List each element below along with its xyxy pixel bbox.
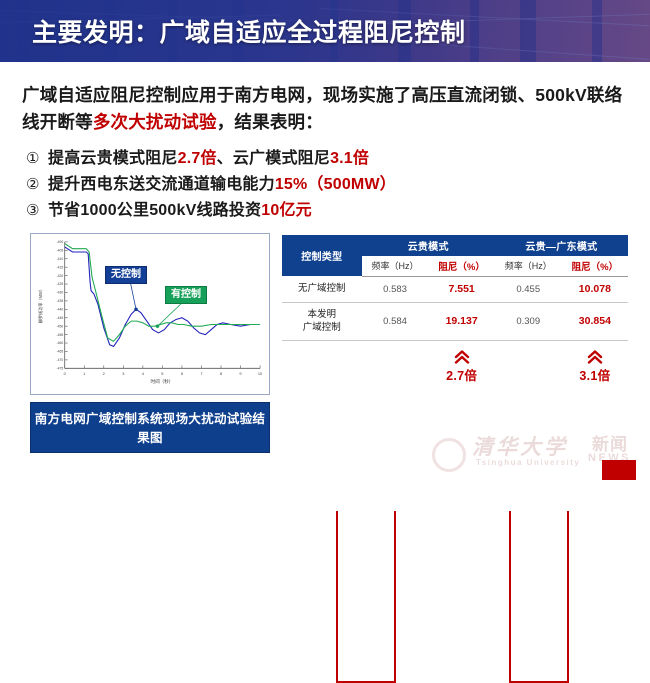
svg-text:-470: -470 xyxy=(56,358,63,362)
findings-list: ① 提高云贵模式阻尼2.7倍、云广模式阻尼3.1倍 ② 提升西电东送交流通道输电… xyxy=(26,146,628,224)
bullet-text: 节省1000公里500kV线路投资10亿元 xyxy=(48,198,312,224)
svg-text:1: 1 xyxy=(83,371,85,376)
svg-text:-430: -430 xyxy=(56,291,63,295)
lead-paragraph: 广域自适应阻尼控制应用于南方电网，现场实施了高压直流闭锁、500kV联络线开断等… xyxy=(22,82,628,135)
cell-yungui-freq: 0.583 xyxy=(362,276,429,302)
ratio-value-yungui: 2.7倍 xyxy=(446,369,477,383)
svg-text:-420: -420 xyxy=(56,274,63,278)
col-header-freq-yungui-guangdong: 频率（Hz） xyxy=(495,256,562,277)
cell-yungui-guangdong-freq: 0.455 xyxy=(495,276,562,302)
ratio-value-yungui-guangdong: 3.1倍 xyxy=(579,369,610,383)
lead-highlight: 多次大扰动试验 xyxy=(93,112,217,132)
svg-text:-465: -465 xyxy=(56,350,63,354)
svg-text:-400: -400 xyxy=(56,240,63,244)
svg-text:-410: -410 xyxy=(56,257,63,261)
cell-yungui-damp: 19.137 xyxy=(429,302,495,340)
bullet-number: ③ xyxy=(26,199,48,223)
list-item: ① 提高云贵模式阻尼2.7倍、云广模式阻尼3.1倍 xyxy=(26,146,628,172)
col-header-freq-yungui: 频率（Hz） xyxy=(362,256,429,277)
lead-text-part2: ，结果表明： xyxy=(217,112,323,132)
svg-text:-435: -435 xyxy=(56,299,63,303)
table-row-ratio: 2.7倍 3.1倍 xyxy=(282,340,628,392)
row-label-invention-wide-area-control: 本发明 广域控制 xyxy=(282,302,362,340)
svg-text:-445: -445 xyxy=(56,316,63,320)
bullet-text: 提升西电东送交流通道输电能力15%（500MW） xyxy=(48,172,396,198)
ratio-row-spacer xyxy=(362,340,429,392)
col-header-damp-yungui: 阻尼（%） xyxy=(429,256,495,277)
svg-text:-405: -405 xyxy=(56,248,63,252)
bullet-highlight-1: 15%（500MW） xyxy=(275,176,396,193)
ratio-yungui: 2.7倍 xyxy=(429,340,495,392)
list-item: ③ 节省1000公里500kV线路投资10亿元 xyxy=(26,198,628,224)
svg-text:-450: -450 xyxy=(56,324,63,328)
ratio-row-spacer xyxy=(495,340,562,392)
cell-yungui-guangdong-damp: 30.854 xyxy=(562,302,628,340)
disturbance-test-chart: 012345678910 -400-405-410-415-420-425-43… xyxy=(30,233,270,395)
svg-text:-460: -460 xyxy=(56,341,63,345)
lower-panel: 012345678910 -400-405-410-415-420-425-43… xyxy=(0,233,650,445)
svg-text:7: 7 xyxy=(200,371,202,376)
double-chevron-up-icon xyxy=(587,350,603,364)
page-title: 主要发明：广域自适应全过程阻尼控制 xyxy=(32,13,466,49)
svg-text:-475: -475 xyxy=(56,366,63,370)
results-table: 控制类型 云贵模式 云贵—广东模式 频率（Hz） 阻尼（%） 频率（Hz） 阻尼… xyxy=(282,235,628,393)
ratio-yungui-guangdong: 3.1倍 xyxy=(562,340,628,392)
cell-yungui-guangdong-freq: 0.309 xyxy=(495,302,562,340)
table-row: 无广域控制 0.583 7.551 0.455 10.078 xyxy=(282,276,628,302)
col-group-yungui-guangdong: 云贵—广东模式 xyxy=(495,235,628,256)
svg-text:-455: -455 xyxy=(56,333,63,337)
svg-text:2: 2 xyxy=(103,371,105,376)
cell-yungui-guangdong-damp: 10.078 xyxy=(562,276,628,302)
header-banner: 主要发明：广域自适应全过程阻尼控制 xyxy=(0,0,650,62)
bullet-highlight-2: 3.1倍 xyxy=(330,150,369,167)
bullet-text-pre: 提高云贵模式阻尼 xyxy=(48,150,178,167)
slide-body: 广域自适应阻尼控制应用于南方电网，现场实施了高压直流闭锁、500kV联络线开断等… xyxy=(0,82,650,445)
cell-yungui-freq: 0.584 xyxy=(362,302,429,340)
bullet-text-mid: 、云广模式阻尼 xyxy=(217,150,330,167)
svg-text:-440: -440 xyxy=(56,307,63,311)
chart-annotation-with-control: 有控制 xyxy=(165,286,207,304)
bullet-number: ① xyxy=(26,147,48,171)
chart-caption: 南方电网广域控制系统现场大扰动试验结果图 xyxy=(30,402,270,453)
bullet-text-pre: 提升西电东送交流通道输电能力 xyxy=(48,176,275,193)
double-chevron-up-icon xyxy=(454,350,470,364)
chart-annotation-no-control: 无控制 xyxy=(105,266,147,284)
bullet-highlight-1: 10亿元 xyxy=(261,202,312,219)
table-row: 本发明 广域控制 0.584 19.137 0.309 30.854 xyxy=(282,302,628,340)
svg-text:9: 9 xyxy=(239,371,241,376)
list-item: ② 提升西电东送交流通道输电能力15%（500MW） xyxy=(26,172,628,198)
corner-red-block xyxy=(602,460,636,480)
row-label-line1: 本发明 xyxy=(308,309,337,320)
university-name-en-watermark: Tsinghua University xyxy=(476,458,580,467)
cell-yungui-damp: 7.551 xyxy=(429,276,495,302)
row-label-line2: 广域控制 xyxy=(303,322,341,333)
svg-text:-415: -415 xyxy=(56,265,63,269)
bullet-text-pre: 节省1000公里500kV线路投资 xyxy=(48,202,261,219)
svg-text:时间（秒）: 时间（秒） xyxy=(151,378,174,385)
results-table-block: 控制类型 云贵模式 云贵—广东模式 频率（Hz） 阻尼（%） 频率（Hz） 阻尼… xyxy=(282,233,650,445)
col-group-yungui: 云贵模式 xyxy=(362,235,495,256)
bullet-number: ② xyxy=(26,173,48,197)
col-header-damp-yungui-guangdong: 阻尼（%） xyxy=(562,256,628,277)
emphasis-outline-yungui-damp xyxy=(336,511,396,683)
chart-block: 012345678910 -400-405-410-415-420-425-43… xyxy=(30,233,270,445)
chart-svg: 012345678910 -400-405-410-415-420-425-43… xyxy=(31,234,269,394)
row-label-no-wide-area-control: 无广域控制 xyxy=(282,276,362,302)
bullet-highlight-1: 2.7倍 xyxy=(178,150,217,167)
svg-text:柳罗线功率（MW）: 柳罗线功率（MW） xyxy=(37,287,43,323)
bullet-text: 提高云贵模式阻尼2.7倍、云广模式阻尼3.1倍 xyxy=(48,146,369,172)
svg-text:-425: -425 xyxy=(56,282,63,286)
ratio-row-spacer xyxy=(282,340,362,392)
col-header-control-type: 控制类型 xyxy=(282,235,362,277)
table-header-row-main: 控制类型 云贵模式 云贵—广东模式 xyxy=(282,235,628,256)
emphasis-outline-yungui-guangdong-damp xyxy=(509,511,569,683)
